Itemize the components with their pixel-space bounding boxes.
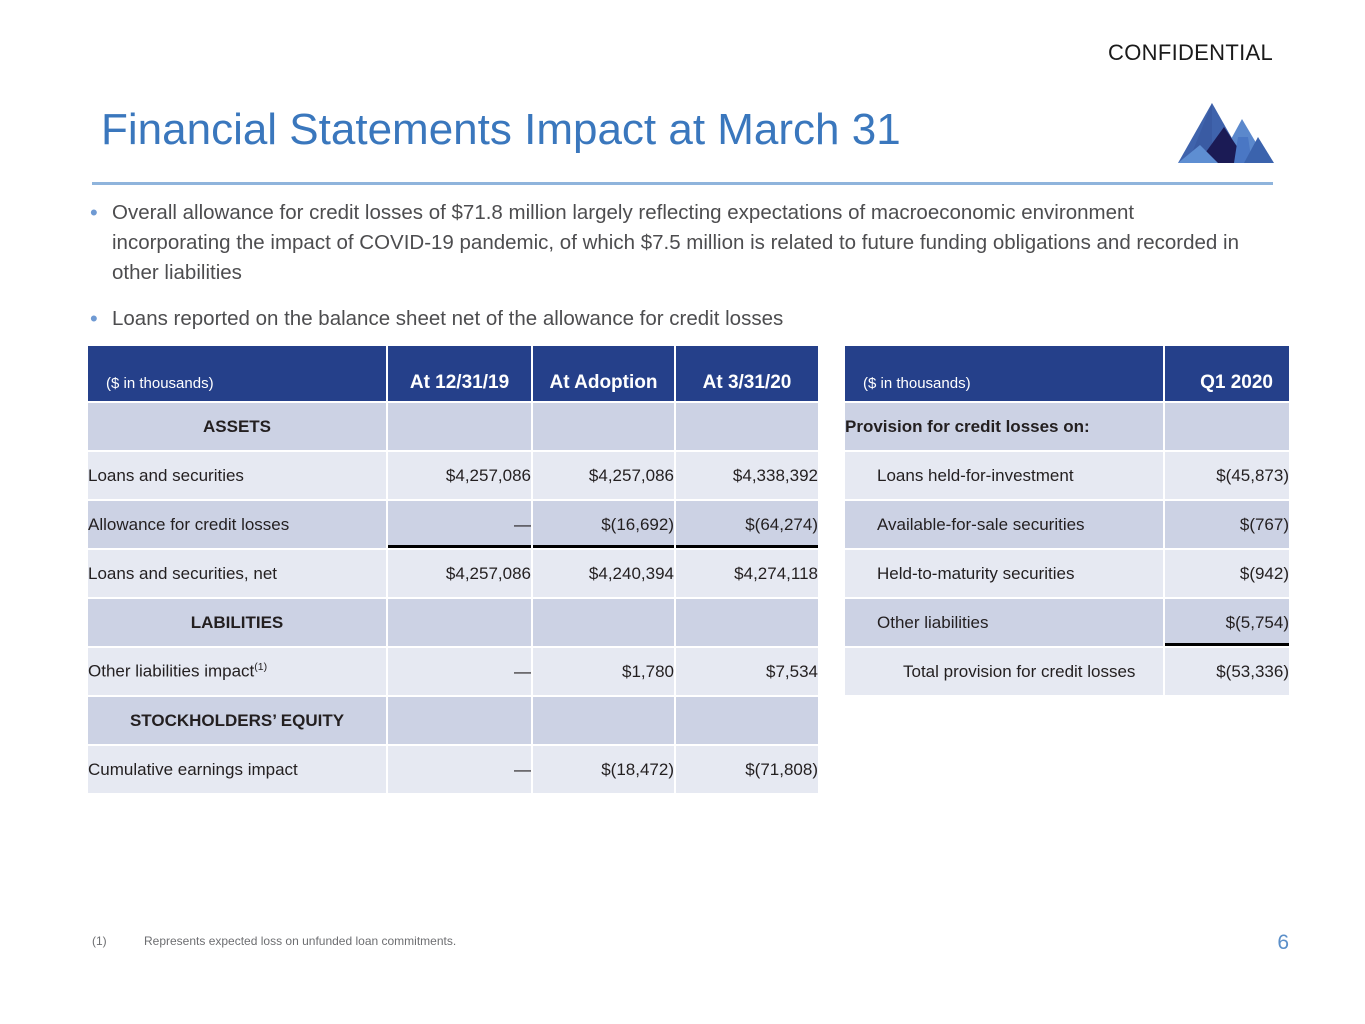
row-value: $(5,754) <box>1165 599 1289 646</box>
row-value <box>388 403 531 450</box>
row-value <box>676 697 818 744</box>
column-header-units: ($ in thousands) <box>845 346 1163 401</box>
page-title: Financial Statements Impact at March 31 <box>101 105 901 155</box>
page-number: 6 <box>1277 931 1289 955</box>
table-row: Total provision for credit losses $(53,3… <box>845 648 1289 695</box>
table-row: LABILITIES <box>88 599 818 646</box>
table-row: Other liabilities $(5,754) <box>845 599 1289 646</box>
row-label: Allowance for credit losses <box>88 501 386 548</box>
financial-statements-table: ($ in thousands) At 12/31/19 At Adoption… <box>86 344 820 795</box>
row-value: $4,338,392 <box>676 452 818 499</box>
row-label: ASSETS <box>88 403 386 450</box>
row-label-text: Other liabilities impact <box>88 662 254 681</box>
bullet-dot-icon: • <box>84 198 112 228</box>
bullet-list: • Overall allowance for credit losses of… <box>84 198 1244 350</box>
row-label: Provision for credit losses on: <box>845 403 1163 450</box>
row-label: STOCKHOLDERS’ EQUITY <box>88 697 386 744</box>
table-row: Loans and securities $4,257,086 $4,257,0… <box>88 452 818 499</box>
mountain-logo <box>1178 97 1274 163</box>
table-header-row: ($ in thousands) At 12/31/19 At Adoption… <box>88 346 818 401</box>
row-value: — <box>388 746 531 793</box>
row-value <box>533 599 674 646</box>
column-header-at-adoption: At Adoption <box>533 346 674 401</box>
bullet-item: • Overall allowance for credit losses of… <box>84 198 1244 288</box>
column-header-units: ($ in thousands) <box>88 346 386 401</box>
row-label: Loans and securities <box>88 452 386 499</box>
row-value: $4,274,118 <box>676 550 818 597</box>
footnote-mark: (1) <box>92 934 144 948</box>
table-row: Other liabilities impact(1) — $1,780 $7,… <box>88 648 818 695</box>
row-label: LABILITIES <box>88 599 386 646</box>
column-header-at-33120: At 3/31/20 <box>676 346 818 401</box>
row-value: $(942) <box>1165 550 1289 597</box>
table-row: Cumulative earnings impact — $(18,472) $… <box>88 746 818 793</box>
table-row: Held-to-maturity securities $(942) <box>845 550 1289 597</box>
row-value: $(45,873) <box>1165 452 1289 499</box>
table-row: ASSETS <box>88 403 818 450</box>
bullet-dot-icon: • <box>84 304 112 334</box>
bullet-text: Loans reported on the balance sheet net … <box>112 304 1244 334</box>
row-value <box>533 403 674 450</box>
row-value: $4,257,086 <box>388 550 531 597</box>
column-header-q1-2020: Q1 2020 <box>1165 346 1289 401</box>
row-label: Other liabilities <box>845 599 1163 646</box>
row-value <box>533 697 674 744</box>
row-value: $(16,692) <box>533 501 674 548</box>
footnote-marker: (1) <box>254 661 267 673</box>
bullet-text: Overall allowance for credit losses of $… <box>112 198 1244 288</box>
row-value <box>388 697 531 744</box>
bullet-item: • Loans reported on the balance sheet ne… <box>84 304 1244 334</box>
table-row: STOCKHOLDERS’ EQUITY <box>88 697 818 744</box>
row-label: Other liabilities impact(1) <box>88 648 386 695</box>
provision-for-credit-losses-table: ($ in thousands) Q1 2020 Provision for c… <box>843 344 1291 697</box>
row-value: $(53,336) <box>1165 648 1289 695</box>
row-label: Loans and securities, net <box>88 550 386 597</box>
row-value: — <box>388 648 531 695</box>
row-label: Total provision for credit losses <box>845 648 1163 695</box>
row-value: $(18,472) <box>533 746 674 793</box>
row-value: $4,257,086 <box>388 452 531 499</box>
row-value: $(71,808) <box>676 746 818 793</box>
footnote-text: Represents expected loss on unfunded loa… <box>144 934 456 948</box>
table-row: Available-for-sale securities $(767) <box>845 501 1289 548</box>
table-row: Provision for credit losses on: <box>845 403 1289 450</box>
row-value <box>1165 403 1289 450</box>
table-row: Loans held-for-investment $(45,873) <box>845 452 1289 499</box>
table-row: Loans and securities, net $4,257,086 $4,… <box>88 550 818 597</box>
title-divider <box>92 182 1273 185</box>
row-value: $(64,274) <box>676 501 818 548</box>
footnote: (1)Represents expected loss on unfunded … <box>92 934 456 948</box>
row-label: Available-for-sale securities <box>845 501 1163 548</box>
row-value: $(767) <box>1165 501 1289 548</box>
column-header-at-123119: At 12/31/19 <box>388 346 531 401</box>
table-row: Allowance for credit losses — $(16,692) … <box>88 501 818 548</box>
row-value: $4,257,086 <box>533 452 674 499</box>
row-value <box>388 599 531 646</box>
table-header-row: ($ in thousands) Q1 2020 <box>845 346 1289 401</box>
row-label: Loans held-for-investment <box>845 452 1163 499</box>
row-value <box>676 403 818 450</box>
row-label: Held-to-maturity securities <box>845 550 1163 597</box>
row-label: Cumulative earnings impact <box>88 746 386 793</box>
confidential-label: CONFIDENTIAL <box>1108 40 1273 66</box>
row-value: $4,240,394 <box>533 550 674 597</box>
row-value <box>676 599 818 646</box>
row-value: — <box>388 501 531 548</box>
row-value: $1,780 <box>533 648 674 695</box>
row-value: $7,534 <box>676 648 818 695</box>
